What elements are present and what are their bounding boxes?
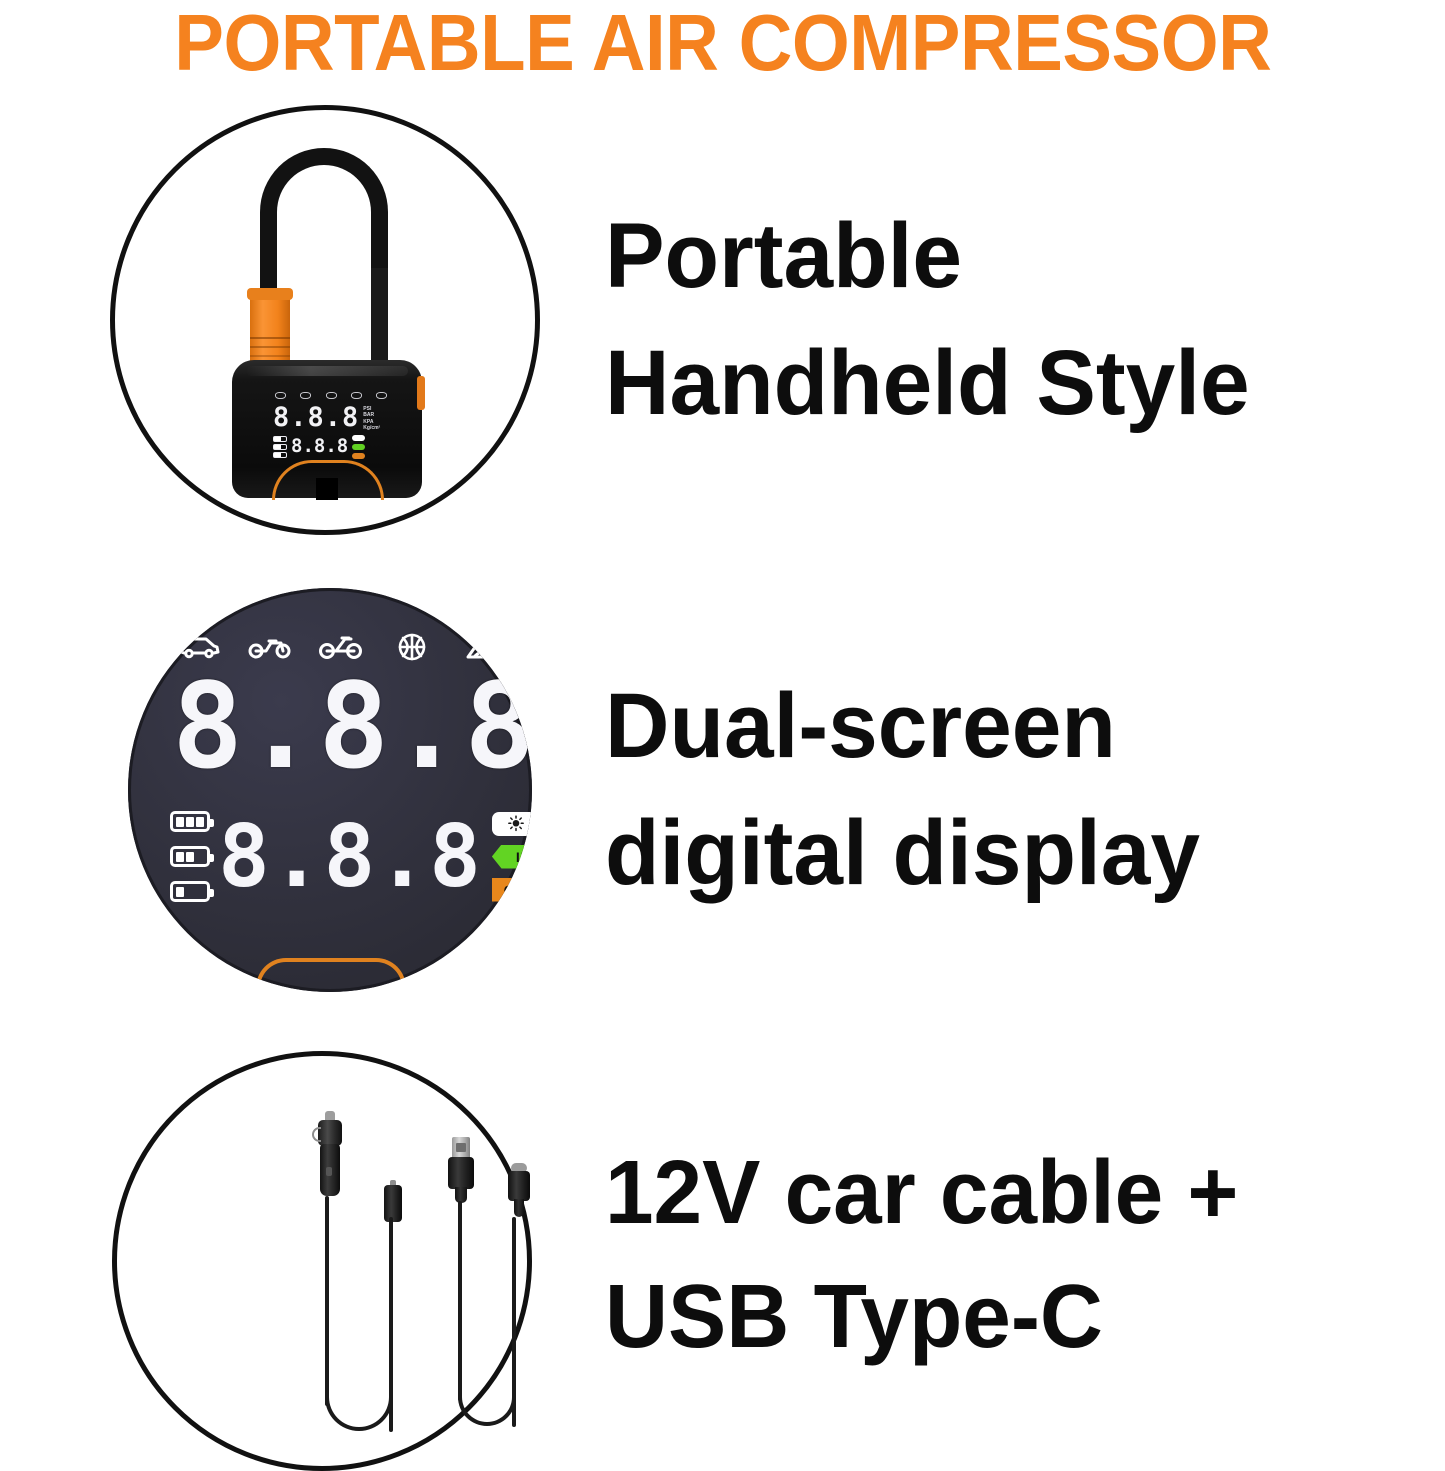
basketball-icon — [389, 632, 435, 662]
body-highlight — [246, 366, 408, 376]
orange-nozzle — [250, 293, 290, 369]
disc-bottom-orange-arc — [256, 958, 406, 988]
inflatable-icon — [376, 392, 387, 399]
primary-reading-row: 8.8.8 PSI BAR KPA Kg/cm² — [172, 670, 502, 797]
feature-row-dual-screen: 8.8.8 PSI BAR KPA Kg/cm² 8.8.8 — [0, 580, 1445, 1000]
in-badge — [352, 444, 365, 450]
car-icon — [176, 632, 222, 662]
car-cable-loop — [325, 1256, 393, 1431]
battery-full-icon — [273, 436, 287, 442]
secondary-reading-row: 8.8.8 IN OUT — [170, 811, 502, 902]
battery-full-icon — [170, 811, 210, 832]
battery-low-icon — [273, 452, 287, 458]
light-icon — [352, 435, 365, 441]
feature-text-block-1: Portable Handheld Style — [560, 193, 1445, 447]
dc-barrel-connector — [384, 1180, 402, 1222]
cables-group — [112, 1051, 532, 1471]
usb-a-shell — [448, 1157, 474, 1189]
car-cable-wire-right — [389, 1217, 393, 1432]
bicycle-icon — [318, 632, 364, 662]
status-badges: IN OUT — [492, 812, 532, 902]
page-title: PORTABLE AIR COMPRESSOR — [174, 3, 1271, 83]
bicycle-icon — [326, 392, 337, 399]
feature-text-block-3: 12V car cable + USB Type-C — [560, 1131, 1445, 1379]
usb-c-strain-relief — [514, 1199, 524, 1217]
media-compressor-photo: 8.8.8 PSI BAR KPA Kg/cm² 8.8.8 — [0, 100, 560, 540]
feature-row-portable-handheld: 8.8.8 PSI BAR KPA Kg/cm² 8.8.8 — [0, 100, 1445, 540]
digital-display-disc: 8.8.8 PSI BAR KPA Kg/cm² 8.8.8 — [128, 588, 532, 992]
cigarette-lighter-plug — [315, 1111, 345, 1201]
feature-label-cables: 12V car cable + USB Type-C — [605, 1131, 1410, 1379]
out-badge — [352, 453, 365, 459]
mini-units: PSI BAR KPA Kg/cm² — [363, 404, 380, 432]
basketball-icon — [351, 392, 362, 399]
feature-label-portable-handheld: Portable Handheld Style — [605, 193, 1410, 447]
air-compressor-product: 8.8.8 PSI BAR KPA Kg/cm² 8.8.8 — [232, 148, 422, 503]
mini-battery-icons — [273, 436, 287, 458]
mini-unit-kgcm2: Kg/cm² — [363, 425, 380, 431]
out-badge: OUT — [492, 878, 532, 902]
usb-cable-wire-right — [512, 1217, 516, 1427]
display-screen: 8.8.8 PSI BAR KPA Kg/cm² 8.8.8 — [128, 588, 532, 992]
in-badge: IN — [492, 845, 532, 869]
primary-reading: 8.8.8 — [172, 670, 532, 782]
feature-label-dual-screen: Dual-screen digital display — [605, 663, 1410, 917]
mini-status-badges — [352, 435, 365, 459]
media-display-closeup: 8.8.8 PSI BAR KPA Kg/cm² 8.8.8 — [0, 580, 560, 1000]
plug-head — [318, 1120, 342, 1146]
media-cables-photo — [0, 1045, 560, 1465]
mini-mode-icons — [273, 390, 389, 401]
nozzle-collar — [247, 288, 293, 300]
battery-medium-icon — [273, 444, 287, 450]
mini-primary-reading: 8.8.8 — [273, 404, 359, 431]
usb-c-connector — [508, 1163, 530, 1223]
plug-spring-clip — [312, 1127, 321, 1142]
plug-led — [326, 1167, 332, 1176]
usb-c-shell — [508, 1171, 530, 1201]
feature-row-cables: 12V car cable + USB Type-C — [0, 1045, 1445, 1465]
battery-indicators — [170, 811, 210, 902]
dc-body — [384, 1185, 402, 1222]
motorcycle-icon — [300, 392, 311, 399]
car-icon — [275, 392, 286, 399]
usb-a-connector — [448, 1137, 474, 1203]
usb-a-metal-tip — [452, 1137, 470, 1159]
feature-text-block-2: Dual-screen digital display — [560, 663, 1445, 917]
hose-loop — [260, 148, 388, 298]
mini-secondary-reading: 8.8.8 — [291, 437, 348, 456]
battery-low-icon — [170, 881, 210, 902]
motorcycle-icon — [247, 632, 293, 662]
light-icon — [492, 812, 532, 836]
side-power-button — [417, 376, 425, 410]
inflatable-icon — [460, 632, 506, 662]
secondary-reading: 8.8.8 — [218, 816, 482, 898]
page-header: PORTABLE AIR COMPRESSOR — [0, 0, 1445, 86]
usb-cable-loop — [458, 1281, 516, 1426]
battery-medium-icon — [170, 846, 210, 867]
bottom-notch — [316, 478, 338, 500]
